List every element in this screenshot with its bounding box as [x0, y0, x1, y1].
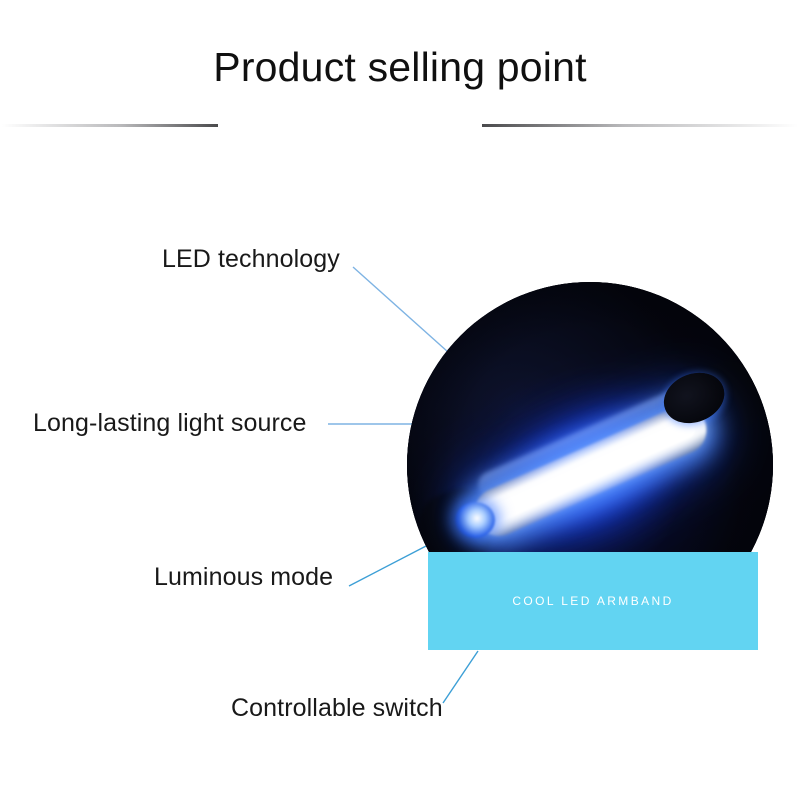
feature-label-luminous-mode: Luminous mode — [154, 563, 333, 592]
page-title: Product selling point — [0, 44, 800, 91]
feature-label-led-technology: LED technology — [162, 245, 340, 274]
product-caption-text: COOL LED ARMBAND — [512, 594, 673, 608]
feature-label-controllable-switch: Controllable switch — [231, 694, 443, 723]
product-caption-banner: COOL LED ARMBAND — [428, 552, 758, 650]
title-divider-left — [2, 124, 218, 127]
feature-label-long-lasting-light-source: Long-lasting light source — [33, 409, 307, 438]
product-selling-point-slide: Product selling point LED technology Lon… — [0, 0, 800, 800]
title-divider-right — [482, 124, 798, 127]
connector-line-controllable-switch — [443, 651, 478, 703]
